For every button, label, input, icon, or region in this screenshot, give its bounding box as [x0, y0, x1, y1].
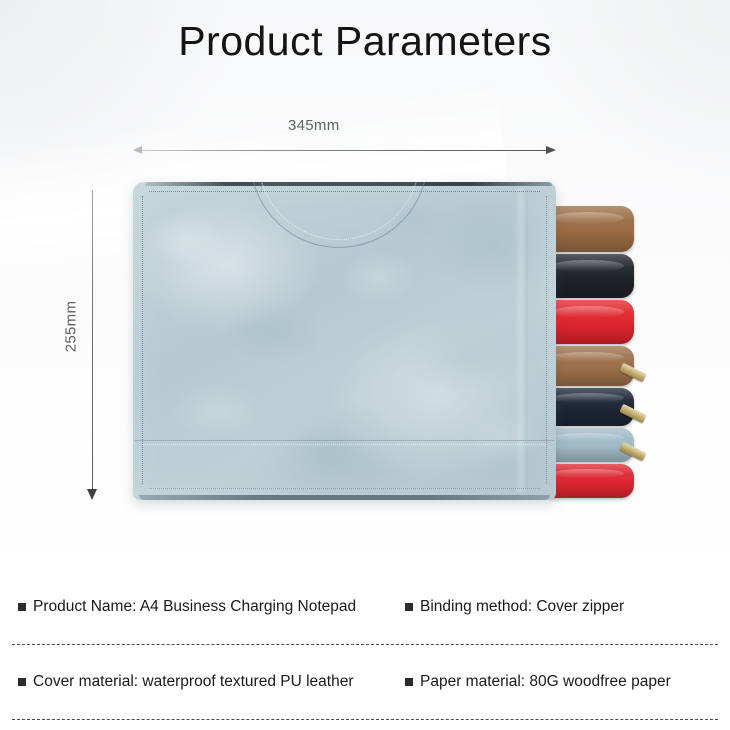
height-dimension-line	[92, 190, 93, 490]
product-parameters-page: Product Parameters 345mm 255mm	[0, 0, 730, 730]
square-bullet-icon	[405, 678, 413, 686]
zipper-pull-icon	[619, 442, 646, 461]
variant-brown-1	[548, 206, 634, 252]
stitch-bottom	[149, 488, 540, 489]
variant-red-2	[548, 464, 634, 498]
square-bullet-icon	[18, 678, 26, 686]
spec-text: Binding method: Cover zipper	[420, 598, 624, 616]
variant-red-1	[548, 300, 634, 344]
zipper-pull-icon	[619, 404, 646, 423]
color-variant-stack	[548, 206, 644, 496]
spec-item-paper-material: Paper material: 80G woodfree paper	[395, 673, 671, 691]
product-notepad	[133, 182, 556, 500]
specification-list: Product Name: A4 Business Charging Notep…	[0, 588, 730, 720]
spacer	[0, 645, 730, 663]
square-bullet-icon	[405, 603, 413, 611]
spec-row: Cover material: waterproof textured PU l…	[0, 663, 730, 701]
height-dimension-label: 255mm	[62, 301, 79, 353]
cover-bottom-edge	[139, 495, 550, 500]
spacer	[0, 701, 730, 719]
variant-navy	[548, 388, 634, 426]
bottom-seam-stitching	[143, 444, 546, 445]
width-arrow-right-icon	[546, 146, 556, 154]
square-bullet-icon	[18, 603, 26, 611]
bottom-seam-line	[135, 440, 554, 441]
spine-crease	[514, 188, 528, 492]
spec-divider	[12, 719, 718, 720]
spacer	[0, 626, 730, 644]
zipper-pull-icon	[619, 363, 646, 382]
spec-text: Cover material: waterproof textured PU l…	[33, 673, 353, 691]
width-dimension-line	[140, 150, 548, 151]
width-arrow-left-icon	[133, 146, 142, 154]
spec-row: Product Name: A4 Business Charging Notep…	[0, 588, 730, 626]
spec-item-cover-material: Cover material: waterproof textured PU l…	[0, 673, 395, 691]
spec-item-product-name: Product Name: A4 Business Charging Notep…	[0, 598, 395, 616]
height-arrow-down-icon	[87, 489, 97, 500]
spec-text: Paper material: 80G woodfree paper	[420, 673, 671, 691]
width-dimension-label: 345mm	[288, 117, 340, 134]
handle-notch	[247, 182, 262, 193]
spec-text: Product Name: A4 Business Charging Notep…	[33, 598, 356, 616]
handle-stitching	[258, 182, 420, 240]
variant-black	[548, 254, 634, 298]
variant-brown-2	[548, 346, 634, 386]
variant-light-blue	[548, 428, 634, 462]
page-title: Product Parameters	[0, 18, 730, 65]
spec-item-binding-method: Binding method: Cover zipper	[395, 598, 624, 616]
